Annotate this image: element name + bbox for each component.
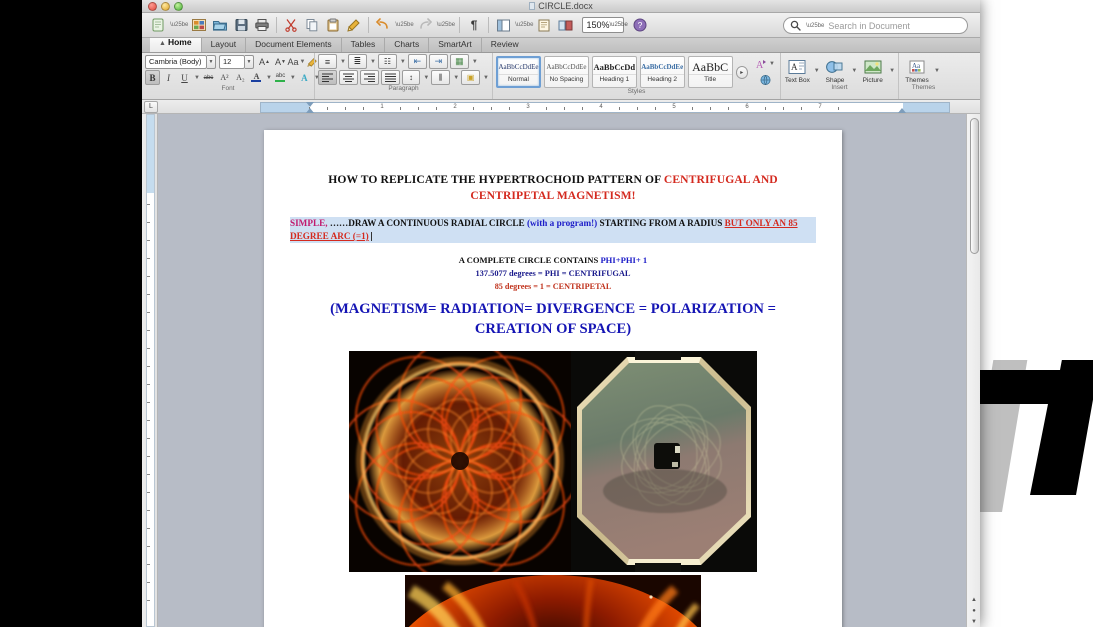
horizontal-ruler[interactable]: L 1 2 3 4 <box>142 100 980 114</box>
align-center-button[interactable] <box>339 70 358 85</box>
tab-review[interactable]: Review <box>482 37 528 52</box>
vruler-tick <box>147 600 150 601</box>
font-name-caret-icon[interactable]: ▼ <box>207 55 216 69</box>
picture-caret-icon[interactable]: ▼ <box>889 68 895 74</box>
picture-label: Picture <box>863 77 883 84</box>
browse-object-button[interactable]: ● <box>969 606 979 616</box>
font-color-label: A <box>254 73 260 80</box>
ribbon-tab-bar: ▲Home Layout Document Elements Tables Ch… <box>142 38 980 53</box>
redo-caret-icon[interactable]: \u25be <box>437 22 455 28</box>
document-paragraph-simple: SIMPLE, ……DRAW A CONTINUOUS RADIAL CIRCL… <box>290 217 816 243</box>
style-title-preview: AaBbC <box>692 62 728 73</box>
columns-caret-icon[interactable]: ▼ <box>453 75 459 81</box>
bold-label: B <box>149 73 155 83</box>
window-title-text: CIRCLE.docx <box>538 1 593 11</box>
ruler-tick <box>564 107 565 110</box>
save-button[interactable] <box>231 16 251 35</box>
style-normal-label: Normal <box>498 74 539 83</box>
text-effects-button[interactable]: A <box>297 70 312 85</box>
ruler-tick <box>619 107 620 110</box>
ruler-tick <box>692 107 693 110</box>
font-group-rows: Cambria (Body) ▼ 12 ▼ A▲ A▼ Aa▼ <box>145 54 311 85</box>
zoom-caret-icon[interactable]: \u25be <box>609 22 630 28</box>
ribbon: Cambria (Body) ▼ 12 ▼ A▲ A▼ Aa▼ <box>142 53 980 100</box>
ribbon-group-insert: A Text Box ▼ Shape ▼ <box>780 53 898 99</box>
sidebar-caret-icon[interactable]: \u25be <box>515 22 533 28</box>
align-left-button[interactable] <box>318 70 337 85</box>
first-line-indent-marker[interactable] <box>306 102 314 107</box>
ribbon-group-font: Cambria (Body) ▼ 12 ▼ A▲ A▼ Aa▼ <box>142 53 314 99</box>
vruler-tick <box>147 222 150 223</box>
ruler-right-margin <box>901 103 949 112</box>
magnifier-icon <box>789 19 802 32</box>
highlight-caret-icon[interactable]: ▼ <box>290 75 296 81</box>
strikethrough-button[interactable]: abc <box>201 70 216 85</box>
highlight-button[interactable]: abc <box>273 70 288 85</box>
borders-caret-icon[interactable]: ▼ <box>472 59 478 65</box>
increase-indent-button[interactable]: ⇥ <box>429 54 448 69</box>
strikethrough-label: abc <box>204 75 214 81</box>
styles-gallery-more-button[interactable]: ▸ <box>736 66 748 79</box>
text-cursor <box>371 232 372 241</box>
ruler-number: 5 <box>672 104 675 110</box>
picture-icon <box>862 58 884 76</box>
document-heading: HOW TO REPLICATE THE HYPERTROCHOID PATTE… <box>290 172 816 204</box>
bold-button[interactable]: B <box>145 70 160 85</box>
paragraph-row-2: ↕ ▼ ⫼ ▼ ▣ ▼ <box>318 70 489 85</box>
ruler-left-margin <box>261 103 309 112</box>
vruler-tick <box>147 456 150 457</box>
line-spacing-button[interactable]: ↕ <box>402 70 421 85</box>
styles-group-rows: AaBbCcDdEe Normal AaBbCcDdEe No Spacing … <box>496 54 777 88</box>
tab-home-label: Home <box>168 37 192 47</box>
tab-layout-label: Layout <box>211 39 237 49</box>
heading-part-black: HOW TO REPLICATE THE HYPERTROCHOID PATTE… <box>328 173 664 186</box>
tab-charts-label: Charts <box>394 39 419 49</box>
style-no-spacing-label: No Spacing <box>545 74 588 83</box>
style-normal-preview: AaBbCcDdEe <box>498 62 538 73</box>
vertical-ruler[interactable] <box>142 114 158 627</box>
ruler-number: 3 <box>526 104 529 110</box>
vruler-tick <box>147 474 150 475</box>
font-name-combobox[interactable]: Cambria (Body) ▼ <box>145 55 216 69</box>
svg-text:Aa: Aa <box>912 62 921 70</box>
open-file-button[interactable] <box>210 16 230 35</box>
formula-line-1-black: A COMPLETE CIRCLE CONTAINS <box>459 255 601 265</box>
borders-button[interactable]: ▦ <box>450 54 469 69</box>
styles-pane-button[interactable]: A ▼ <box>753 57 777 71</box>
template-gallery-button[interactable] <box>189 16 209 35</box>
vruler-tick <box>147 582 150 583</box>
text-box-label: Text Box <box>785 77 810 84</box>
font-size-combobox[interactable]: 12 ▼ <box>219 55 254 69</box>
document-vertical-scrollbar[interactable]: ▲ ● ▼ <box>966 114 980 627</box>
ruler-tick <box>582 107 583 110</box>
right-indent-marker[interactable] <box>898 108 906 113</box>
vruler-tick <box>147 258 150 259</box>
line-spacing-label: ↕ <box>409 73 413 82</box>
shading-button[interactable]: ▣ <box>461 70 480 85</box>
new-document-button[interactable] <box>148 16 168 35</box>
ruler-tick <box>801 107 802 110</box>
manage-styles-button[interactable] <box>753 73 777 87</box>
text-box-icon: A <box>786 58 808 76</box>
paragraph-row-1: ≡ ▼ ≣ ▼ ☷ ▼ ⇤ ⇥ ▦ ▼ <box>318 54 489 69</box>
align-right-button[interactable] <box>360 70 379 85</box>
tab-document-elements[interactable]: Document Elements <box>246 37 342 52</box>
zoom-combobox[interactable]: 150% \u25be <box>582 17 624 33</box>
tab-charts[interactable]: Charts <box>385 37 429 52</box>
cut-button[interactable] <box>281 16 301 35</box>
vruler-tick <box>147 276 150 277</box>
ruler-tick <box>418 107 419 110</box>
ruler-tick <box>765 107 766 110</box>
window-title: CIRCLE.docx <box>142 0 980 13</box>
octagon-plate-svg <box>571 351 757 572</box>
ribbon-group-themes: Aa Themes ▼ Themes <box>898 53 948 99</box>
text-box-button[interactable]: A Text Box <box>784 58 811 84</box>
style-title[interactable]: AaBbC Title <box>688 56 733 88</box>
styles-group-label: Styles <box>496 88 777 96</box>
borders-label: ▦ <box>455 56 464 67</box>
bullets-label: ≡ <box>325 57 330 67</box>
multilevel-caret-icon[interactable]: ▼ <box>400 59 406 65</box>
ruler-number: 7 <box>818 104 821 110</box>
ruler-number: 4 <box>599 104 602 110</box>
search-scope-caret-icon[interactable]: \u25be <box>806 23 824 29</box>
octagon-plate-image[interactable] <box>571 351 757 572</box>
shrink-font-button[interactable]: A▼ <box>273 54 288 69</box>
highlight-label: abc <box>276 73 286 80</box>
underline-caret-icon[interactable]: ▼ <box>194 75 200 81</box>
ruler-tick <box>473 107 474 110</box>
font-row-2: B I U ▼ abc A² A₂ A ▼ abc <box>145 70 311 85</box>
heading-line-2: CENTRIPETAL MAGNETISM! <box>470 189 635 202</box>
styles-side-buttons: A ▼ <box>753 57 777 87</box>
scroll-down-button[interactable]: ▼ <box>969 617 979 627</box>
toolbar-separator-4 <box>488 17 489 33</box>
italic-button[interactable]: I <box>161 70 176 85</box>
paragraph-group-rows: ≡ ▼ ≣ ▼ ☷ ▼ ⇤ ⇥ ▦ ▼ <box>318 54 489 85</box>
insert-group-rows: A Text Box ▼ Shape ▼ <box>784 54 895 84</box>
style-heading-2[interactable]: AaBbCcDdEe Heading 2 <box>640 56 685 88</box>
fire-vortex-image[interactable] <box>405 575 701 627</box>
para-simple-magenta: SIMPLE, <box>290 218 330 228</box>
redo-button[interactable] <box>415 16 435 35</box>
styles-more-glyph: ▸ <box>740 69 743 76</box>
ruler-number: 6 <box>745 104 748 110</box>
scroll-up-button[interactable]: ▲ <box>969 595 979 605</box>
ruler-tick <box>509 107 510 110</box>
ruler-page-area <box>309 103 903 112</box>
style-normal[interactable]: AaBbCcDdEe Normal <box>496 56 541 88</box>
grow-font-button[interactable]: A▲ <box>257 54 272 69</box>
underline-button[interactable]: U <box>177 70 192 85</box>
ruler-tick <box>546 107 547 110</box>
tab-stop-glyph: L <box>149 103 153 110</box>
ruler-tick <box>327 107 328 110</box>
undo-button[interactable] <box>373 16 393 35</box>
numbering-label: ≣ <box>354 56 362 67</box>
vertical-ruler-strip <box>146 114 155 627</box>
style-no-spacing-preview: AaBbCcDdEe <box>546 62 586 73</box>
ruler-tick <box>838 107 839 110</box>
formula-line-1: A COMPLETE CIRCLE CONTAINS PHI+PHI+ 1 <box>290 254 816 267</box>
ruler-strip[interactable]: 1 2 3 4 5 6 <box>260 102 950 113</box>
word-application-window: CIRCLE.docx \u25be <box>142 0 980 627</box>
toolbar-separator-3 <box>459 17 460 33</box>
vruler-tick <box>147 384 150 385</box>
fire-vortex-svg <box>405 575 701 627</box>
vertical-top-margin <box>147 115 154 193</box>
tab-review-label: Review <box>491 39 519 49</box>
ruler-number: 2 <box>453 104 456 110</box>
format-painter-button[interactable] <box>344 16 364 35</box>
style-heading-1-label: Heading 1 <box>593 74 636 83</box>
document-icon <box>529 2 535 10</box>
themes-group-label: Themes <box>902 84 945 92</box>
formula-line-3: 85 degrees = 1 = CENTRIPETAL <box>290 280 816 293</box>
ruler-tick <box>363 107 364 110</box>
superscript-label: A² <box>220 73 228 82</box>
ruler-tick <box>728 107 729 110</box>
superscript-button[interactable]: A² <box>217 70 232 85</box>
zoom-value: 150% <box>586 20 609 30</box>
vruler-tick <box>147 492 150 493</box>
scrollbar-thumb[interactable] <box>970 118 979 254</box>
ruler-tick <box>655 107 656 110</box>
styles-pane-caret-icon[interactable]: ▼ <box>769 61 775 67</box>
para-simple-dark-2: STARTING FROM A RADIUS <box>597 218 724 228</box>
print-button[interactable] <box>252 16 272 35</box>
tab-document-elements-label: Document Elements <box>255 39 332 49</box>
document-content[interactable]: HOW TO REPLICATE THE HYPERTROCHOID PATTE… <box>264 130 842 627</box>
document-page[interactable]: HOW TO REPLICATE THE HYPERTROCHOID PATTE… <box>264 130 842 627</box>
vruler-tick <box>147 312 150 313</box>
shape-label: Shape <box>826 77 845 84</box>
vruler-tick <box>147 294 150 295</box>
home-icon: ▲ <box>159 40 166 47</box>
increase-indent-label: ⇥ <box>435 56 443 67</box>
standard-toolbar: \u25be <box>142 13 980 38</box>
change-case-button[interactable]: Aa▼ <box>289 54 304 69</box>
vruler-tick <box>147 366 150 367</box>
italic-label: I <box>167 73 170 83</box>
toolbar-separator-2 <box>368 17 369 33</box>
style-no-spacing[interactable]: AaBbCcDdEe No Spacing <box>544 56 589 88</box>
picture-button[interactable]: Picture <box>859 58 886 84</box>
search-placeholder: Search in Document <box>828 21 910 31</box>
decrease-indent-label: ⇤ <box>414 56 422 67</box>
justify-button[interactable] <box>381 70 400 85</box>
vruler-tick <box>147 330 150 331</box>
ruler-tick <box>710 107 711 110</box>
paragraph-group-label: Paragraph <box>318 85 489 93</box>
multilevel-label: ☷ <box>384 57 391 66</box>
subscript-label: A₂ <box>236 73 245 82</box>
subscript-button[interactable]: A₂ <box>233 70 248 85</box>
ruler-tick <box>637 107 638 110</box>
vruler-tick <box>147 438 150 439</box>
para-simple-blue: (with a program!) <box>527 218 597 228</box>
ruler-number: 1 <box>380 104 383 110</box>
document-big-statement: (MAGNETISM= RADIATION= DIVERGENCE = POLA… <box>290 299 816 339</box>
shading-caret-icon[interactable]: ▼ <box>483 75 489 81</box>
numbering-caret-icon[interactable]: ▼ <box>370 59 376 65</box>
vruler-tick <box>147 204 150 205</box>
ruler-tick <box>783 107 784 110</box>
shading-label: ▣ <box>467 73 475 82</box>
formula-line-1-blue: PHI+PHI+ 1 <box>600 255 647 265</box>
formula-line-2: 137.5077 degrees = PHI = CENTRIFUGAL <box>290 267 816 280</box>
document-image-row <box>290 351 816 572</box>
tab-tables-label: Tables <box>351 39 376 49</box>
copy-button[interactable] <box>302 16 322 35</box>
svg-text:A: A <box>791 62 798 72</box>
undo-caret-icon[interactable]: \u25be <box>395 22 413 28</box>
para-simple-dark-1: ……DRAW A CONTINUOUS RADIAL CIRCLE <box>330 218 527 228</box>
style-heading-1[interactable]: AaBbCcDd Heading 1 <box>592 56 637 88</box>
formatting-marks-button[interactable]: ¶ <box>464 16 484 35</box>
vruler-tick <box>147 420 150 421</box>
vruler-tick <box>147 402 150 403</box>
font-row-1: Cambria (Body) ▼ 12 ▼ A▲ A▼ Aa▼ <box>145 54 311 69</box>
screen-root: CIRCLE.docx \u25be <box>0 0 1115 627</box>
vruler-tick <box>147 510 150 511</box>
ruler-tick <box>436 107 437 110</box>
themes-caret-icon[interactable]: ▼ <box>934 68 940 74</box>
insert-group-label: Insert <box>784 84 895 92</box>
bullets-button[interactable]: ≡ <box>318 54 337 69</box>
themes-group-rows: Aa Themes ▼ <box>902 54 945 84</box>
vruler-tick <box>147 240 150 241</box>
hanging-indent-marker[interactable] <box>306 108 314 113</box>
big-statement-line-1: (MAGNETISM= RADIATION= DIVERGENCE = POLA… <box>330 301 776 317</box>
multilevel-list-button[interactable]: ☷ <box>378 54 397 69</box>
shape-button[interactable]: Shape <box>822 58 849 84</box>
themes-icon: Aa <box>906 58 928 76</box>
style-heading-2-preview: AaBbCcDdEe <box>641 62 683 73</box>
vruler-tick <box>147 546 150 547</box>
vruler-tick <box>147 564 150 565</box>
font-color-button[interactable]: A <box>249 70 264 85</box>
tab-smartart[interactable]: SmartArt <box>429 37 482 52</box>
new-document-caret-icon[interactable]: \u25be <box>170 22 188 28</box>
font-name-value: Cambria (Body) <box>145 55 207 69</box>
change-case-label: Aa <box>288 57 299 67</box>
help-button[interactable]: ? <box>630 16 650 35</box>
font-size-value: 12 <box>219 55 245 69</box>
themes-label: Themes <box>905 77 928 84</box>
heading-part-red: CENTRIFUGAL AND <box>664 173 778 186</box>
tab-stop-selector[interactable]: L <box>144 101 158 113</box>
text-effects-label: A <box>301 73 308 83</box>
font-size-caret-icon[interactable]: ▼ <box>245 55 254 69</box>
publishing-layout-button[interactable] <box>555 16 575 35</box>
vruler-tick <box>147 348 150 349</box>
sidebar-toggle-button[interactable] <box>493 16 513 35</box>
columns-button[interactable]: ⫼ <box>431 70 450 85</box>
decrease-indent-button[interactable]: ⇤ <box>408 54 427 69</box>
window-titlebar: CIRCLE.docx <box>142 0 980 13</box>
style-heading-1-preview: AaBbCcDd <box>594 62 636 73</box>
ribbon-group-styles: AaBbCcDdEe Normal AaBbCcDdEe No Spacing … <box>492 53 780 99</box>
line-spacing-caret-icon[interactable]: ▼ <box>423 75 429 81</box>
shape-caret-icon[interactable]: ▼ <box>851 68 857 74</box>
ruler-tick <box>400 107 401 110</box>
ruler-tick <box>345 107 346 110</box>
big-statement-line-2: CREATION OF SPACE) <box>475 321 631 337</box>
highlight-swatch <box>275 80 285 83</box>
shape-icon <box>824 58 846 76</box>
numbering-button[interactable]: ≣ <box>348 54 367 69</box>
document-canvas[interactable]: HOW TO REPLICATE THE HYPERTROCHOID PATTE… <box>158 114 966 627</box>
notebook-layout-button[interactable] <box>534 16 554 35</box>
bullets-caret-icon[interactable]: ▼ <box>340 59 346 65</box>
tab-tables[interactable]: Tables <box>342 37 386 52</box>
tab-layout[interactable]: Layout <box>202 37 247 52</box>
paste-button[interactable] <box>323 16 343 35</box>
tab-smartart-label: SmartArt <box>438 39 472 49</box>
columns-label: ⫼ <box>439 73 443 83</box>
ruler-tick <box>491 107 492 110</box>
toolbar-separator <box>276 17 277 33</box>
font-color-swatch <box>251 80 261 83</box>
document-work-area: HOW TO REPLICATE THE HYPERTROCHOID PATTE… <box>142 114 980 627</box>
search-in-document-field[interactable]: \u25be Search in Document <box>783 17 968 34</box>
font-color-caret-icon[interactable]: ▼ <box>266 75 272 81</box>
vruler-tick <box>147 528 150 529</box>
svg-text:A: A <box>756 60 764 70</box>
document-formula-block: A COMPLETE CIRCLE CONTAINS PHI+PHI+ 1 13… <box>290 254 816 293</box>
style-heading-2-label: Heading 2 <box>641 74 684 83</box>
text-box-caret-icon[interactable]: ▼ <box>814 68 820 74</box>
spirograph-hypotrochoid-image[interactable] <box>349 351 571 572</box>
spirograph-svg <box>349 351 571 572</box>
themes-button[interactable]: Aa Themes <box>902 58 932 84</box>
underline-label: U <box>181 73 188 83</box>
ribbon-group-paragraph: ≡ ▼ ≣ ▼ ☷ ▼ ⇤ ⇥ ▦ ▼ <box>314 53 492 99</box>
font-group-label: Font <box>145 85 311 93</box>
svg-text:?: ? <box>638 20 643 30</box>
style-title-label: Title <box>689 74 732 83</box>
